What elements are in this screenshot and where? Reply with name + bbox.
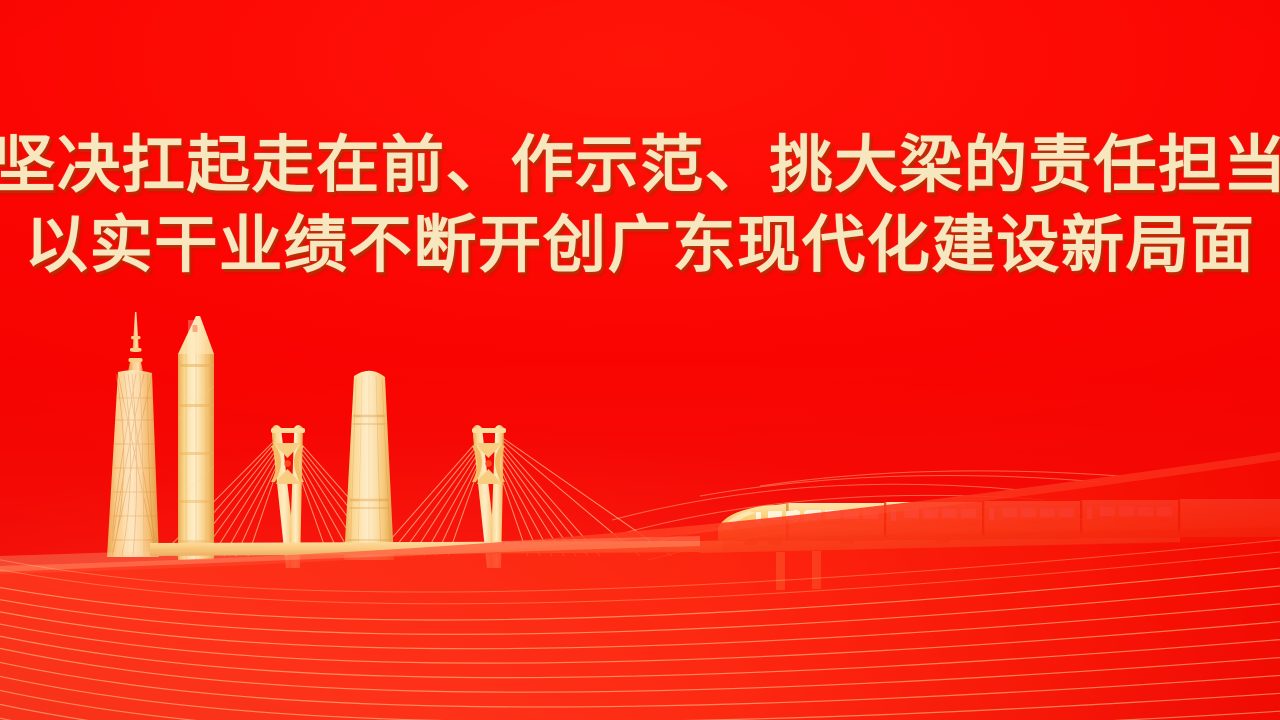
- background-vignette: [0, 0, 1280, 720]
- poster-canvas: 坚决扛起走在前、作示范、挑大梁的责任担当 以实干业绩不断开创广东现代化建设新局面: [0, 0, 1280, 720]
